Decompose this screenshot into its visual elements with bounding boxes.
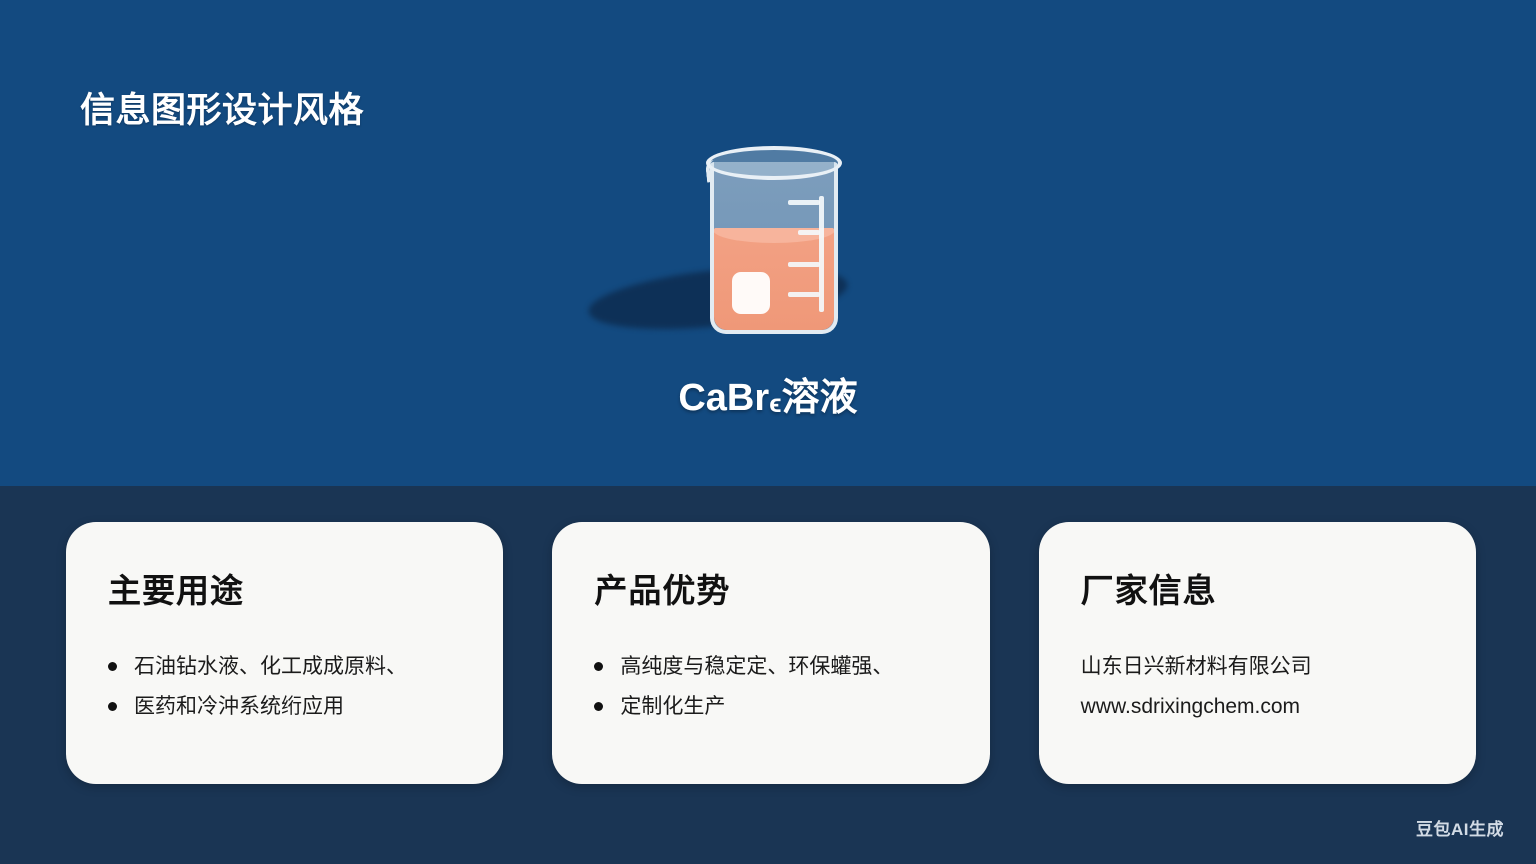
scale-tick-icon: [788, 292, 820, 297]
info-card-manufacturer[interactable]: 厂家信息 山东日兴新材料有限公司 www.sdrixingchem.com: [1039, 522, 1476, 784]
list-item: 医药和冷沖系统绗应用: [108, 690, 469, 724]
scale-tick-icon: [788, 262, 820, 267]
page-title: 信息图形设计风格: [80, 82, 364, 133]
scale-tick-icon: [788, 200, 820, 205]
card-title: 产品优势: [594, 564, 955, 612]
watermark-label: 豆包AI生成: [1416, 815, 1504, 840]
card-title: 厂家信息: [1081, 564, 1442, 612]
beaker-icon: [704, 144, 844, 336]
hero-caption-subscript: ϵ: [769, 388, 781, 418]
list-item: 石油钻水液、化工成成原料、: [108, 650, 469, 684]
card-plain-list: 山东日兴新材料有限公司 www.sdrixingchem.com: [1081, 650, 1442, 723]
slide-canvas: 信息图形设计风格 CaBrϵ溶液 主要用途 石油钻水液、化工成成原料、: [0, 0, 1536, 864]
hero-caption: CaBrϵ溶液: [0, 366, 1536, 421]
liquid-highlight-square: [732, 272, 770, 314]
list-item: 山东日兴新材料有限公司: [1081, 650, 1442, 684]
card-bullet-list: 石油钻水液、化工成成原料、 医药和冷沖系统绗应用: [108, 650, 469, 723]
scale-tick-icon: [798, 230, 820, 235]
hero-caption-formula: CaBr: [678, 377, 769, 419]
list-item-website[interactable]: www.sdrixingchem.com: [1081, 690, 1442, 724]
info-card-group: 主要用途 石油钻水液、化工成成原料、 医药和冷沖系统绗应用 产品优势 高纯度与稳…: [66, 522, 1476, 784]
info-card-uses[interactable]: 主要用途 石油钻水液、化工成成原料、 医药和冷沖系统绗应用: [66, 522, 503, 784]
list-item: 高纯度与稳定定、环保蠸强、: [594, 650, 955, 684]
card-title: 主要用途: [108, 564, 469, 612]
beaker-illustration: [576, 130, 960, 360]
beaker-rim: [706, 146, 842, 180]
list-item: 定制化生产: [594, 690, 955, 724]
info-card-advantages[interactable]: 产品优势 高纯度与稳定定、环保蠸强、 定制化生产: [552, 522, 989, 784]
beaker-liquid: [714, 228, 834, 330]
hero-caption-suffix: 溶液: [782, 377, 858, 419]
card-bullet-list: 高纯度与稳定定、环保蠸强、 定制化生产: [594, 650, 955, 723]
